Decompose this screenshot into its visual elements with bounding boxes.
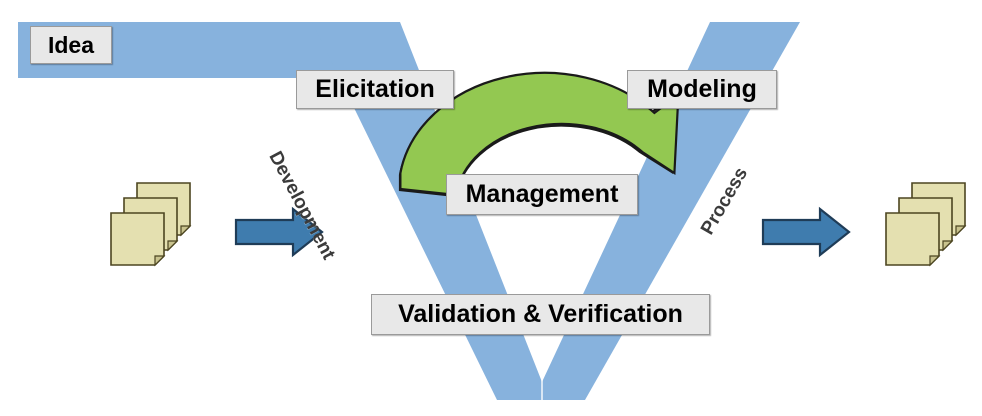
label-modeling: Modeling — [627, 70, 777, 109]
document-stack-input-icon — [111, 183, 190, 265]
diagram-canvas: Development Process Idea Elicitation Mod… — [0, 0, 982, 416]
label-management: Management — [446, 174, 638, 215]
label-elicitation: Elicitation — [296, 70, 454, 109]
label-idea: Idea — [30, 26, 112, 64]
label-validation-verification: Validation & Verification — [371, 294, 710, 335]
document-stack-output-icon — [886, 183, 965, 265]
right-arrow-output-icon — [763, 209, 849, 255]
